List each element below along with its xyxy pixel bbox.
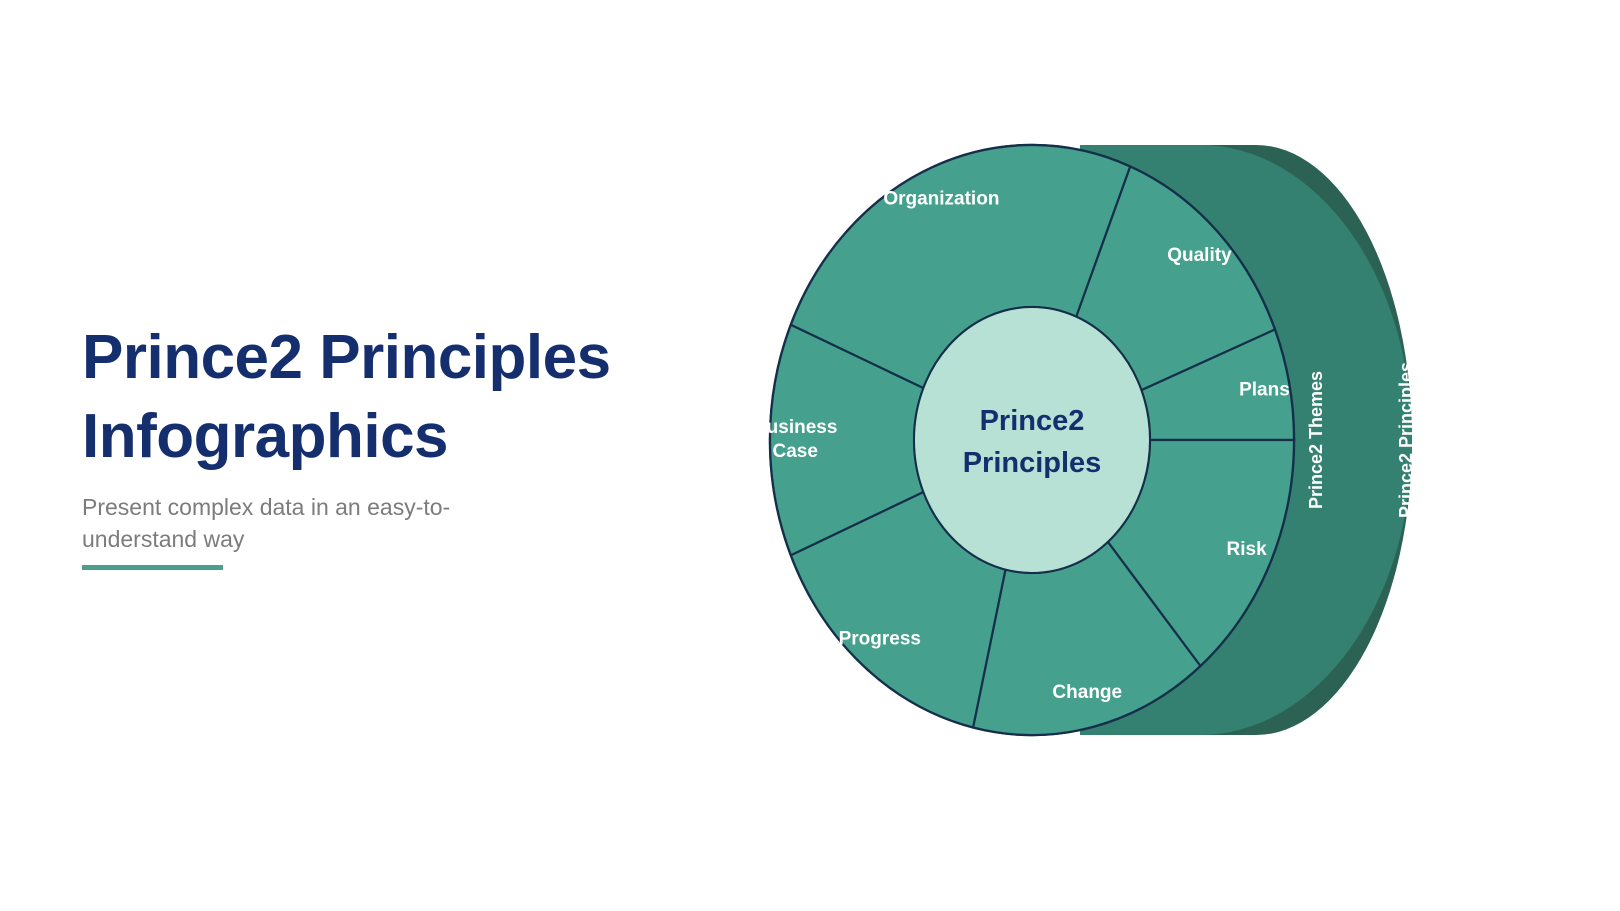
segment-label: Organization bbox=[883, 188, 999, 209]
center-label-line2: Principles bbox=[963, 447, 1102, 479]
center-circle bbox=[914, 307, 1150, 573]
segment-label: Quality bbox=[1167, 245, 1232, 266]
segment-label: Risk bbox=[1227, 539, 1268, 560]
outer-label-themes: Prince2 Themes bbox=[1306, 371, 1326, 509]
outer-label-principles: Prince2 Principles bbox=[1396, 362, 1416, 518]
title-block: Prince2 Principles Infographics Present … bbox=[82, 318, 682, 556]
page-title: Prince2 Principles Infographics bbox=[82, 318, 682, 477]
slide-canvas: Prince2 Principles Infographics Present … bbox=[0, 0, 1620, 911]
segment-label: Plans bbox=[1239, 379, 1290, 400]
segment-label: Change bbox=[1052, 682, 1122, 703]
accent-underline bbox=[82, 565, 223, 570]
center-label-line1: Prince2 bbox=[980, 405, 1085, 437]
page-subtitle: Present complex data in an easy-to- unde… bbox=[82, 491, 502, 556]
segment-label: Progress bbox=[839, 628, 921, 649]
prince2-wheel-diagram: Prince2 Principles QualityPlansRiskChang… bbox=[700, 100, 1500, 800]
